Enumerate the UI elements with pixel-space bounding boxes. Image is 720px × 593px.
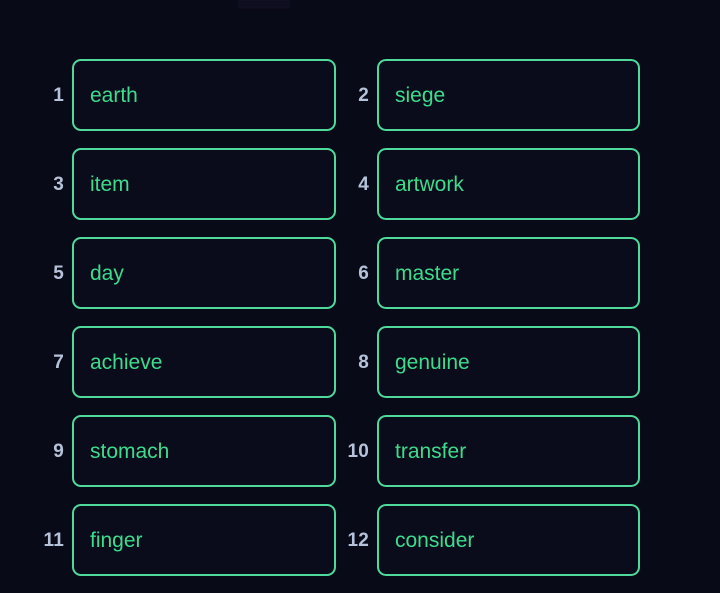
word-box-2[interactable]: siege: [377, 59, 640, 131]
word-box-8[interactable]: genuine: [377, 326, 640, 398]
word-entry-12[interactable]: 12 consider: [335, 504, 640, 576]
word-box-5[interactable]: day: [72, 237, 336, 309]
word-row: 3 item 4 artwork: [0, 148, 720, 237]
word-text-4: artwork: [395, 174, 464, 195]
word-row: 5 day 6 master: [0, 237, 720, 326]
word-text-5: day: [90, 263, 124, 284]
word-text-7: achieve: [90, 352, 162, 373]
word-entry-8[interactable]: 8 genuine: [335, 326, 640, 398]
word-index-2: 2: [335, 86, 377, 105]
word-text-2: siege: [395, 85, 445, 106]
word-entry-2[interactable]: 2 siege: [335, 59, 640, 131]
word-index-6: 6: [335, 264, 377, 283]
word-index-7: 7: [30, 353, 72, 372]
word-index-8: 8: [335, 353, 377, 372]
word-index-1: 1: [30, 86, 72, 105]
word-text-11: finger: [90, 530, 143, 551]
word-text-3: item: [90, 174, 130, 195]
word-entry-4[interactable]: 4 artwork: [335, 148, 640, 220]
word-text-8: genuine: [395, 352, 470, 373]
word-text-9: stomach: [90, 441, 169, 462]
word-index-12: 12: [335, 531, 377, 550]
word-index-10: 10: [335, 442, 377, 461]
word-box-11[interactable]: finger: [72, 504, 336, 576]
word-text-1: earth: [90, 85, 138, 106]
word-entry-6[interactable]: 6 master: [335, 237, 640, 309]
word-index-3: 3: [30, 175, 72, 194]
word-box-6[interactable]: master: [377, 237, 640, 309]
word-entry-7[interactable]: 7 achieve: [30, 326, 336, 398]
word-row: 9 stomach 10 transfer: [0, 415, 720, 504]
word-entry-5[interactable]: 5 day: [30, 237, 336, 309]
word-entry-10[interactable]: 10 transfer: [335, 415, 640, 487]
word-entry-9[interactable]: 9 stomach: [30, 415, 336, 487]
word-entry-1[interactable]: 1 earth: [30, 59, 336, 131]
word-index-11: 11: [30, 531, 72, 550]
word-text-6: master: [395, 263, 459, 284]
clipped-header-artifact: [238, 0, 290, 9]
word-box-12[interactable]: consider: [377, 504, 640, 576]
word-index-9: 9: [30, 442, 72, 461]
word-box-3[interactable]: item: [72, 148, 336, 220]
word-box-9[interactable]: stomach: [72, 415, 336, 487]
word-index-5: 5: [30, 264, 72, 283]
word-entry-11[interactable]: 11 finger: [30, 504, 336, 576]
word-list-screen: 1 earth 2 siege 3 item 4: [0, 0, 720, 592]
word-index-4: 4: [335, 175, 377, 194]
word-row: 11 finger 12 consider: [0, 504, 720, 593]
word-text-12: consider: [395, 530, 474, 551]
word-row: 7 achieve 8 genuine: [0, 326, 720, 415]
word-text-10: transfer: [395, 441, 466, 462]
word-box-7[interactable]: achieve: [72, 326, 336, 398]
word-box-10[interactable]: transfer: [377, 415, 640, 487]
word-entry-3[interactable]: 3 item: [30, 148, 336, 220]
word-box-1[interactable]: earth: [72, 59, 336, 131]
word-box-4[interactable]: artwork: [377, 148, 640, 220]
word-grid: 1 earth 2 siege 3 item 4: [0, 59, 720, 593]
word-row: 1 earth 2 siege: [0, 59, 720, 148]
